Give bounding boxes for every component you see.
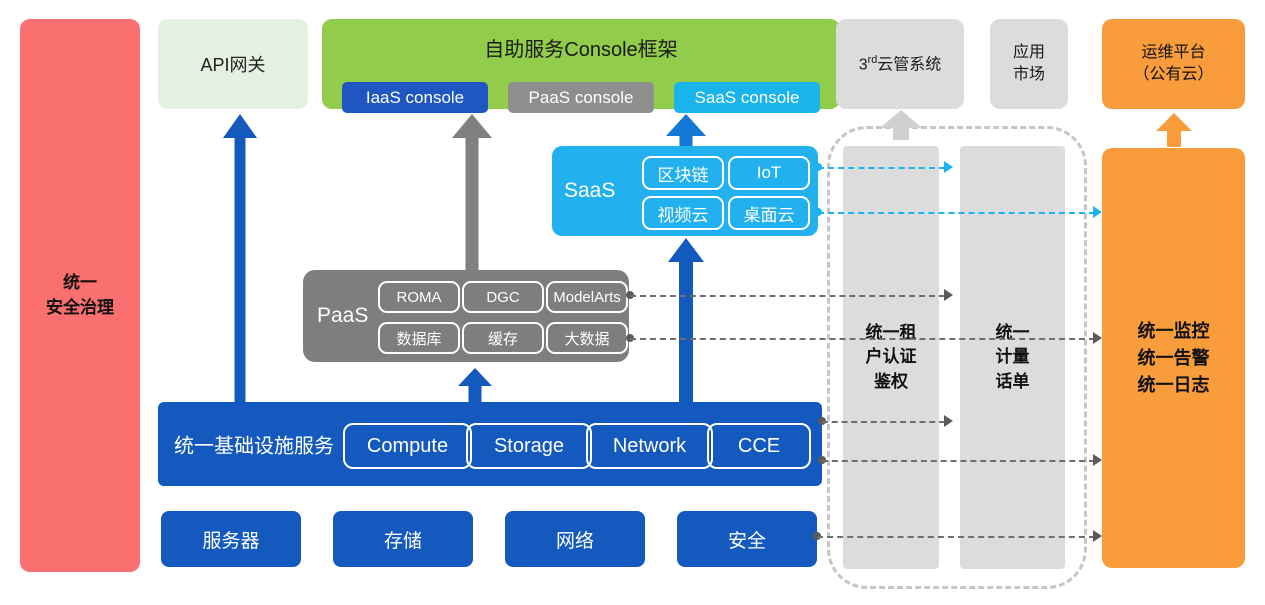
resource-box-server[interactable]: 服务器 [161,511,301,567]
third-party-cloud-mgmt-label: 3rd云管系统 [859,53,942,76]
arrow-paas-to-console [452,114,492,270]
paas-panel: PaaS ROMA DGC ModelArts 数据库 缓存 大数据 [303,270,629,362]
resource-box-network[interactable]: 网络 [505,511,645,567]
arrow-ops-panel-to-ops-platform [1156,113,1192,147]
ops-panel-line2: 统一告警 [1138,345,1210,372]
api-gateway-label: API网关 [200,51,265,77]
connector-paas-to-auth [630,295,945,297]
paas-item-bigdata[interactable]: 大数据 [546,322,628,354]
infra-item-compute[interactable]: Compute [343,423,472,469]
saas-item-iot[interactable]: IoT [728,156,810,190]
paas-item-cache[interactable]: 缓存 [462,322,544,354]
ops-platform-line1: 运维平台 [1141,42,1205,64]
arrow-infra-to-paas [458,368,492,406]
connector-infra-to-ops [822,460,1095,462]
metering-column-line1: 统一 [996,321,1030,345]
ops-panel-line3: 统一日志 [1138,372,1210,399]
console-framework-panel: 自助服务Console框架 IaaS console PaaS console … [322,19,840,109]
unified-infrastructure-label: 统一基础设施服务 [174,430,334,459]
app-market-line2: 市场 [1013,64,1045,86]
connector-paas-to-ops [630,338,1095,340]
arrowhead-security-to-ops [1093,530,1102,542]
arrowhead-infra-to-auth [944,415,953,427]
paas-console-button[interactable]: PaaS console [508,82,654,113]
connector-saas-to-ops [818,212,1095,214]
app-market-line1: 应用 [1013,42,1045,64]
security-governance-line1: 统一 [63,271,97,296]
ops-platform-line2: （公有云） [1133,64,1213,86]
app-market-box[interactable]: 应用 市场 [990,19,1068,109]
auth-column-line1: 统一租 [866,321,917,345]
arrowhead-infra-to-ops [1093,454,1102,466]
saas-panel: SaaS 区块链 IoT 视频云 桌面云 [552,146,818,236]
metering-column-line2: 计量 [996,345,1030,369]
saas-item-blockchain[interactable]: 区块链 [642,156,724,190]
security-governance-line2: 安全治理 [46,296,114,321]
connector-infra-to-auth [822,421,945,423]
arrowhead-paas-to-auth [944,289,953,301]
arrowhead-saas-to-ops [1093,206,1102,218]
resource-box-storage[interactable]: 存储 [333,511,473,567]
infra-item-network[interactable]: Network [586,423,713,469]
connector-saas-to-auth [818,167,945,169]
infra-item-cce[interactable]: CCE [707,423,811,469]
ops-panel-line1: 统一监控 [1138,318,1210,345]
saas-console-button[interactable]: SaaS console [674,82,820,113]
paas-item-database[interactable]: 数据库 [378,322,460,354]
metering-column-line3: 话单 [996,370,1030,394]
unified-metering-column: 统一 计量 话单 [960,146,1065,569]
saas-item-desktop-cloud[interactable]: 桌面云 [728,196,810,230]
arrow-infra-to-saas [668,238,704,408]
arrow-infra-to-api-gateway [223,114,257,404]
console-framework-title: 自助服务Console框架 [322,33,840,62]
paas-item-modelarts[interactable]: ModelArts [546,281,628,313]
paas-panel-label: PaaS [317,304,368,328]
ops-platform-public-cloud-box[interactable]: 运维平台 （公有云） [1102,19,1245,109]
connector-security-to-ops [817,536,1095,538]
saas-panel-label: SaaS [564,179,615,203]
third-party-cloud-mgmt-box[interactable]: 3rd云管系统 [836,19,964,109]
paas-item-roma[interactable]: ROMA [378,281,460,313]
auth-column-line3: 鉴权 [874,370,908,394]
unified-ops-panel: 统一监控 统一告警 统一日志 [1102,148,1245,568]
saas-item-video-cloud[interactable]: 视频云 [642,196,724,230]
unified-infrastructure-bar: 统一基础设施服务 Compute Storage Network CCE [158,402,822,486]
arrowhead-paas-to-ops [1093,332,1102,344]
arrow-zone-to-third-party [880,110,922,140]
auth-column-line2: 户认证 [866,345,917,369]
arrowhead-saas-to-auth [944,161,953,173]
paas-item-dgc[interactable]: DGC [462,281,544,313]
architecture-diagram: 统一 安全治理 API网关 自助服务Console框架 IaaS console… [0,0,1265,605]
iaas-console-button[interactable]: IaaS console [342,82,488,113]
infra-item-storage[interactable]: Storage [466,423,592,469]
security-governance-panel: 统一 安全治理 [20,19,140,572]
api-gateway-box[interactable]: API网关 [158,19,308,109]
resource-box-security[interactable]: 安全 [677,511,817,567]
unified-tenant-auth-column: 统一租 户认证 鉴权 [843,146,939,569]
